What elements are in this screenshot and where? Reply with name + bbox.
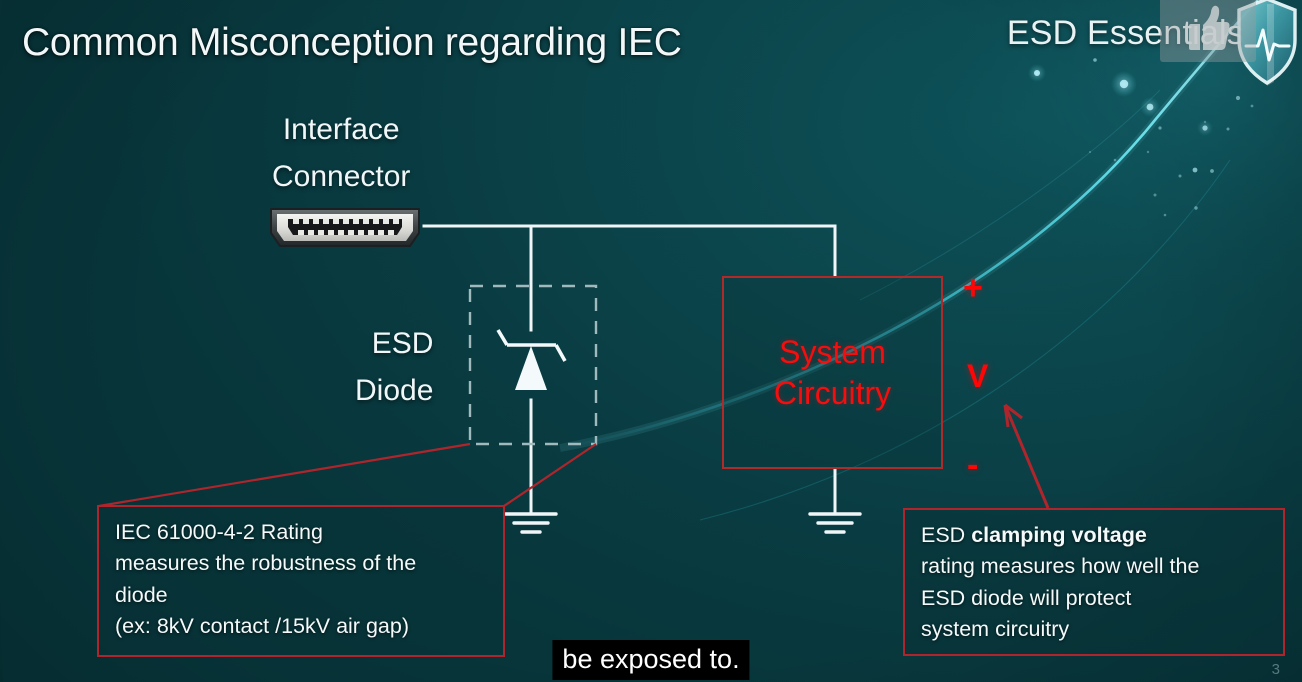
callout-right-line3: ESD diode will protect: [921, 583, 1269, 614]
callout-left-line4: (ex: 8kV contact /15kV air gap): [115, 611, 489, 642]
system-circuitry-box: System Circuitry: [722, 276, 943, 469]
callout-right-arrow: [1005, 405, 1048, 508]
slide-stage: Common Misconception regarding IEC ESD E…: [0, 0, 1302, 682]
callout-right-line1: ESD clamping voltage: [921, 520, 1269, 551]
polarity-minus-marker: -: [967, 446, 978, 485]
callout-right-bold: clamping voltage: [971, 523, 1147, 547]
ground-icon-system: [810, 514, 860, 532]
callout-right: ESD clamping voltage rating measures how…: [903, 508, 1285, 656]
callout-left-leader-lines: [99, 444, 596, 506]
ground-icon-diode: [506, 514, 556, 532]
callout-right-line4: system circuitry: [921, 614, 1269, 645]
system-circuitry-line2: Circuitry: [774, 373, 891, 414]
callout-right-lead: ESD: [921, 523, 971, 547]
subtitle-caption: be exposed to.: [552, 640, 749, 680]
voltage-v-marker: V: [967, 358, 988, 395]
page-number: 3: [1272, 661, 1280, 678]
polarity-plus-marker: +: [963, 269, 983, 308]
callout-left-line3: diode: [115, 580, 489, 611]
callout-right-line2: rating measures how well the: [921, 551, 1269, 582]
tvs-zener-diode-icon: [498, 330, 565, 390]
callout-left-line2: measures the robustness of the: [115, 548, 489, 579]
system-circuitry-line1: System: [779, 332, 886, 373]
callout-left: IEC 61000-4-2 Rating measures the robust…: [97, 505, 505, 657]
callout-left-line1: IEC 61000-4-2 Rating: [115, 517, 489, 548]
